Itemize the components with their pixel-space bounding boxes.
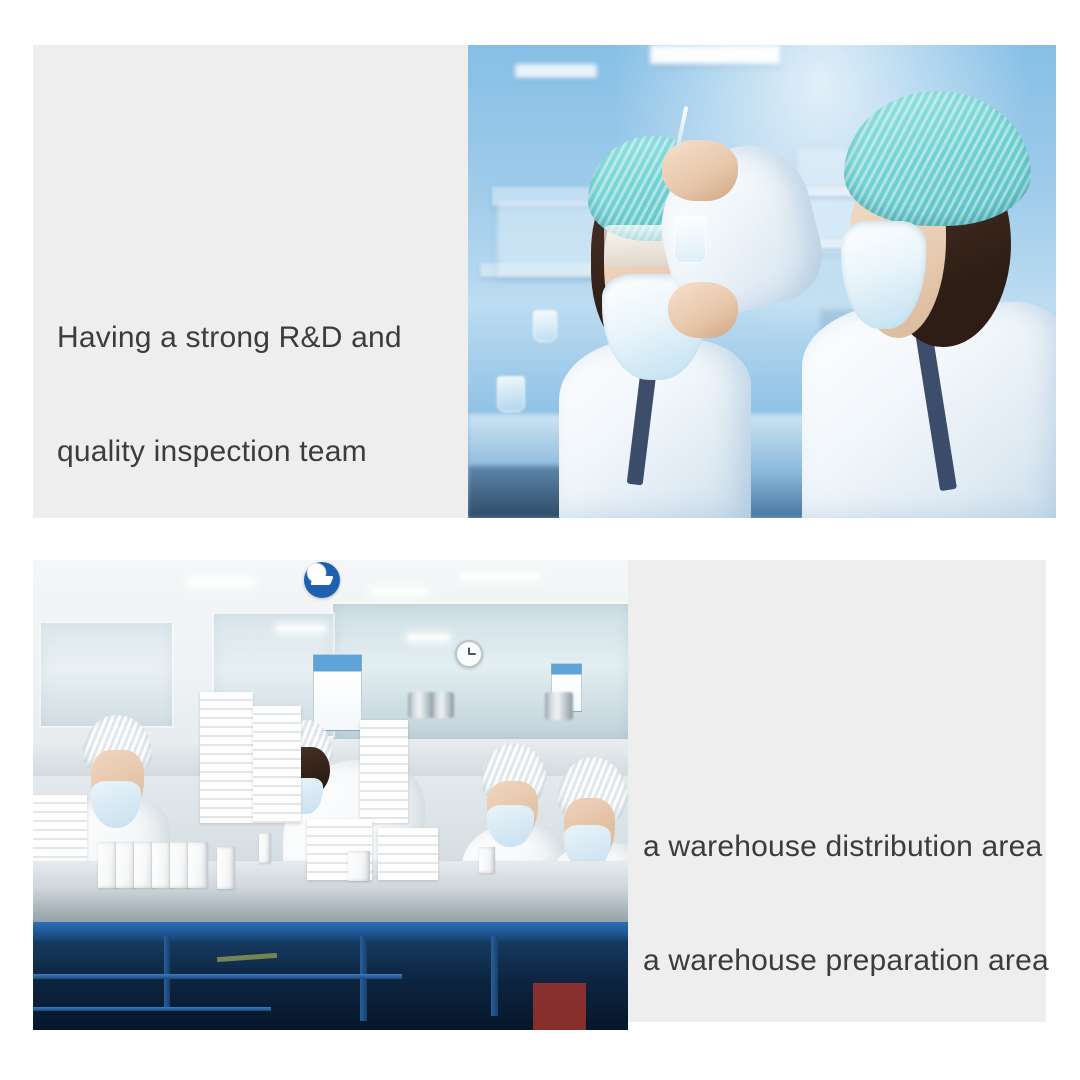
warehouse-carton-stack-table-2	[378, 828, 438, 880]
warehouse-red-crate	[533, 983, 587, 1030]
rnd-caption: Having a strong R&D and quality inspecti…	[57, 243, 457, 509]
lab-beaker-left-2	[533, 310, 557, 342]
warehouse-carton-stack-2	[253, 706, 301, 824]
warehouse-drum-1	[408, 692, 434, 718]
rnd-caption-line-2: quality inspection team	[57, 433, 457, 471]
rnd-caption-line-1: Having a strong R&D and	[57, 319, 457, 357]
warehouse-carton	[479, 847, 495, 873]
warehouse-lamp-1	[188, 579, 253, 585]
lab-ceiling-light-2	[650, 45, 779, 64]
warehouse-carton-stack-1	[200, 692, 254, 824]
warehouse-lamp-3	[461, 574, 538, 580]
warehouse-lamp-5	[408, 635, 450, 640]
warehouse-packing-photo	[33, 560, 628, 1030]
warehouse-carton	[217, 847, 235, 889]
lab-hand-lower	[668, 282, 739, 339]
lab-sample-vial	[674, 215, 706, 263]
warehouse-carton-stack-3	[360, 720, 408, 823]
rnd-lab-photo	[468, 45, 1056, 518]
warehouse-table-rail-2	[33, 1007, 271, 1011]
lab-technician-right	[774, 69, 1056, 518]
warehouse-caption-line-2: a warehouse preparation area	[643, 942, 1043, 980]
warehouse-round-sign	[304, 562, 340, 598]
warehouse-carton	[259, 833, 271, 863]
lab-ceiling-light	[515, 64, 597, 78]
lab-beaker-left	[497, 376, 525, 412]
warehouse-table-rail-1	[33, 974, 402, 979]
warehouse-caption-line-1: a warehouse distribution area	[643, 828, 1043, 866]
warehouse-lamp-2	[372, 588, 426, 594]
warehouse-drum-3	[545, 692, 573, 720]
warehouse-table-edge	[33, 922, 628, 941]
warehouse-drum-2	[432, 692, 454, 718]
lab-hairnet-right	[844, 91, 1030, 226]
warehouse-lamp-4	[277, 626, 325, 631]
warehouse-carton	[348, 851, 370, 881]
warehouse-table-leg-3	[491, 936, 498, 1016]
warehouse-caption: a warehouse distribution area a warehous…	[643, 752, 1043, 1018]
lab-hand-upper	[662, 140, 738, 201]
warehouse-carton	[188, 842, 208, 888]
